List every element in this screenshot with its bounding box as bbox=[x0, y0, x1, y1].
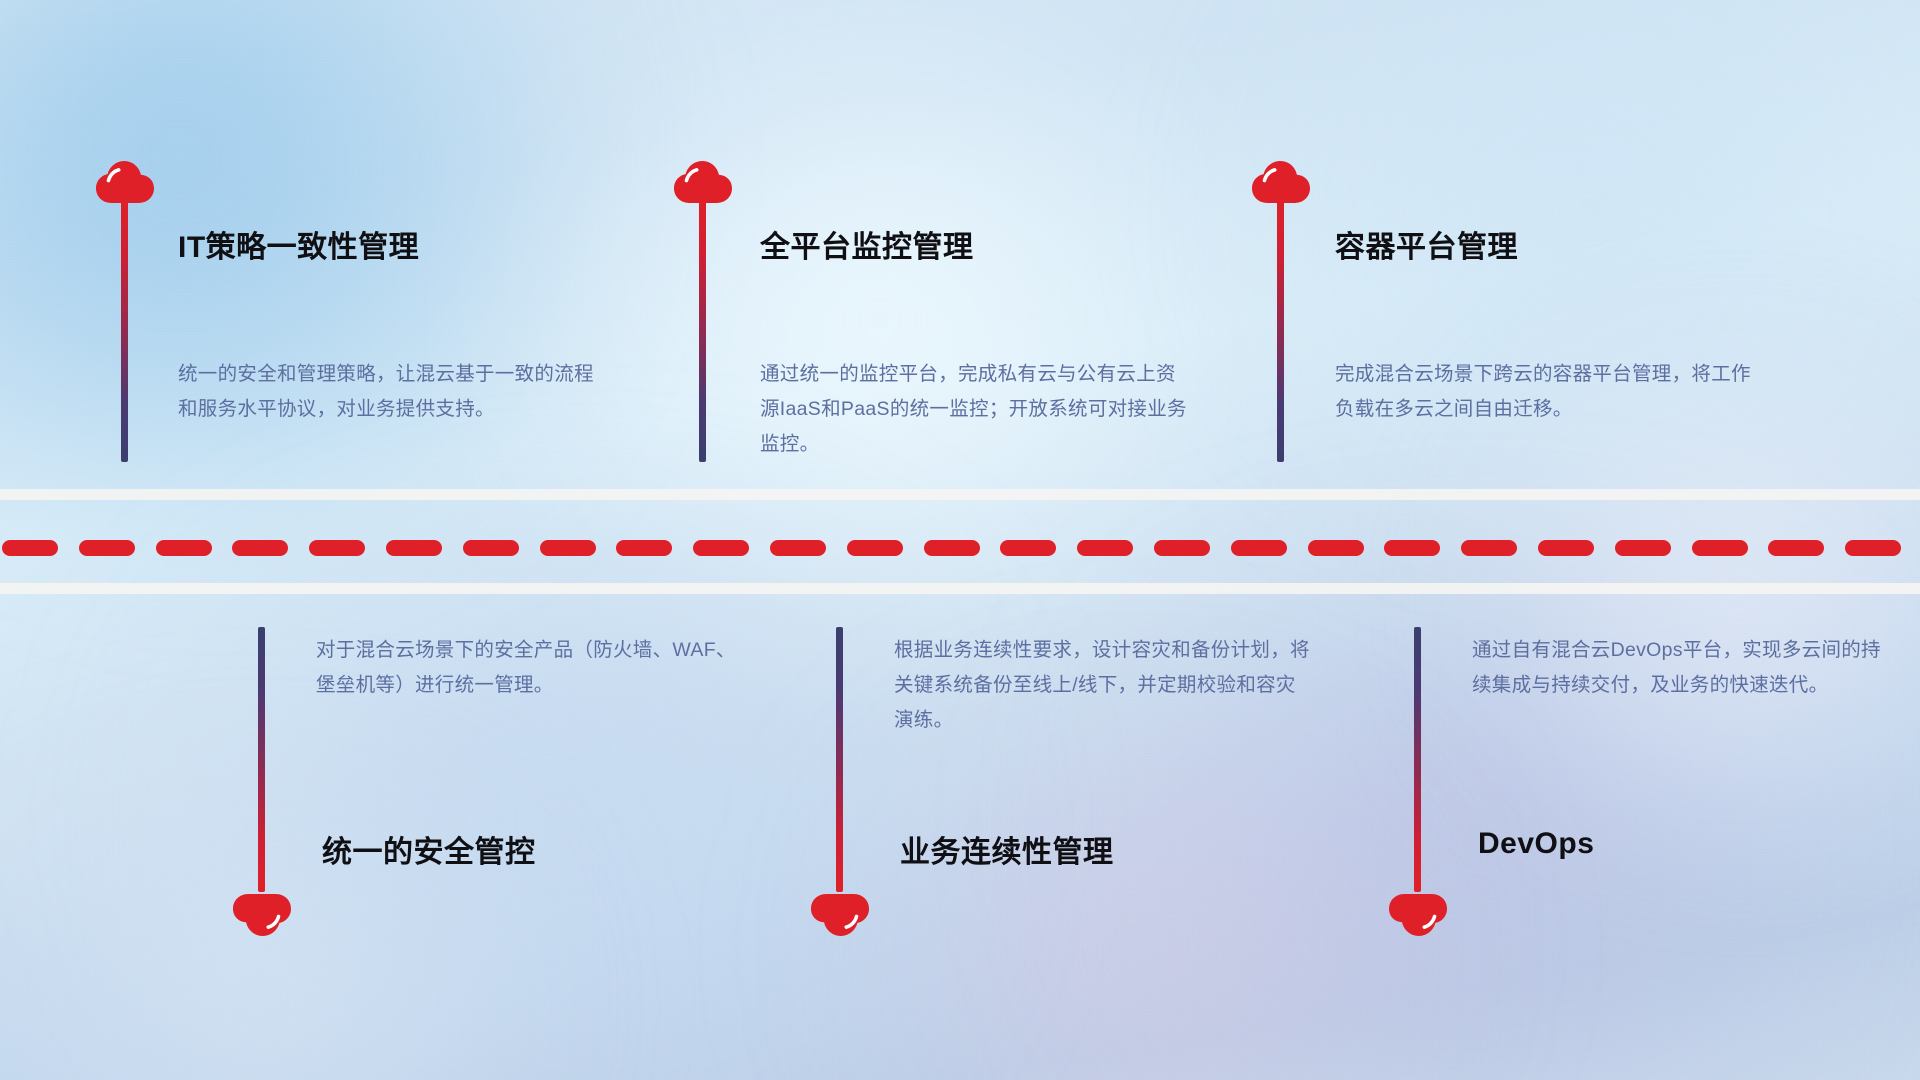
road-dash-segment bbox=[309, 540, 365, 556]
road-dash-segment bbox=[1845, 540, 1901, 556]
item-title: DevOps bbox=[1478, 827, 1594, 861]
item-title: 全平台监控管理 bbox=[760, 222, 974, 266]
item-description: 完成混合云场景下跨云的容器平台管理，将工作负载在多云之间自由迁移。 bbox=[1335, 357, 1760, 427]
road-dash-segment bbox=[463, 540, 519, 556]
road-dash-segment bbox=[1000, 540, 1056, 556]
road-dash-segment bbox=[386, 540, 442, 556]
road-dash-segment bbox=[924, 540, 980, 556]
road-dash-segment bbox=[1154, 540, 1210, 556]
road-edge-line-top bbox=[0, 489, 1920, 500]
road-dash-segment bbox=[616, 540, 672, 556]
road-dash-segment bbox=[1615, 540, 1671, 556]
road-dash-segment bbox=[693, 540, 749, 556]
stem-line bbox=[121, 196, 128, 462]
cloud-marker-icon bbox=[809, 893, 871, 937]
item-title: 业务连续性管理 bbox=[900, 827, 1114, 871]
infographic-canvas: IT策略一致性管理 统一的安全和管理策略，让混云基于一致的流程和服务水平协议，对… bbox=[0, 0, 1920, 1080]
item-title: 统一的安全管控 bbox=[322, 827, 536, 871]
stem-line bbox=[836, 627, 843, 892]
road-dash-segment bbox=[2, 540, 58, 556]
item-description: 对于混合云场景下的安全产品（防火墙、WAF、堡垒机等）进行统一管理。 bbox=[316, 633, 736, 703]
road-dash-segment bbox=[1538, 540, 1594, 556]
item-description: 根据业务连续性要求，设计容灾和备份计划，将关键系统备份至线上/线下，并定期校验和… bbox=[894, 633, 1314, 738]
item-description: 通过自有混合云DevOps平台，实现多云间的持续集成与持续交付，及业务的快速迭代… bbox=[1472, 633, 1892, 703]
stem-line bbox=[1414, 627, 1421, 892]
road-dash-segment bbox=[1384, 540, 1440, 556]
road-dash-segment bbox=[1077, 540, 1133, 556]
item-title: 容器平台管理 bbox=[1335, 222, 1518, 266]
road-dash-segment bbox=[540, 540, 596, 556]
stem-line bbox=[258, 627, 265, 892]
item-description: 统一的安全和管理策略，让混云基于一致的流程和服务水平协议，对业务提供支持。 bbox=[178, 357, 603, 427]
road-dash-segment bbox=[156, 540, 212, 556]
road-dash-segment bbox=[232, 540, 288, 556]
stem-line bbox=[699, 196, 706, 462]
road-center-dashes bbox=[0, 540, 1920, 556]
road-dash-segment bbox=[1231, 540, 1287, 556]
road-dash-segment bbox=[1308, 540, 1364, 556]
road-dash-segment bbox=[1461, 540, 1517, 556]
item-title: IT策略一致性管理 bbox=[178, 222, 419, 266]
stem-line bbox=[1277, 196, 1284, 462]
road-edge-line-bottom bbox=[0, 583, 1920, 594]
road-dash-segment bbox=[770, 540, 826, 556]
road-dash-segment bbox=[1692, 540, 1748, 556]
road-dash-segment bbox=[79, 540, 135, 556]
road-dash-segment bbox=[847, 540, 903, 556]
road-dash-segment bbox=[1768, 540, 1824, 556]
cloud-marker-icon bbox=[1387, 893, 1449, 937]
cloud-marker-icon bbox=[231, 893, 293, 937]
item-description: 通过统一的监控平台，完成私有云与公有云上资源IaaS和PaaS的统一监控；开放系… bbox=[760, 357, 1190, 462]
